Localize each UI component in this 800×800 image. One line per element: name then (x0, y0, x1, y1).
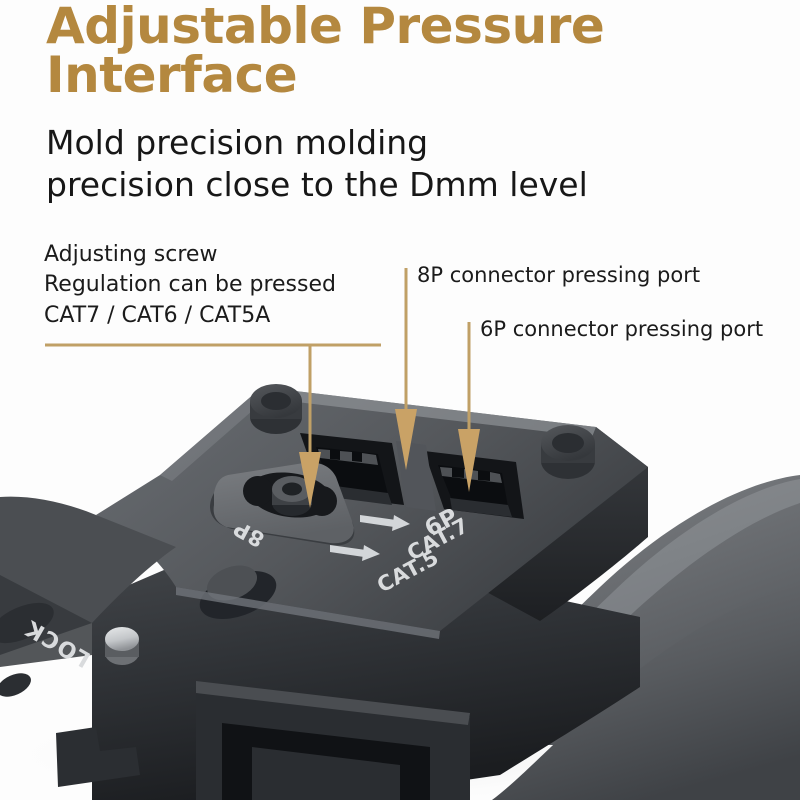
callout-6p-port: 6P connector pressing port (480, 316, 763, 343)
page-subtitle: Mold precision molding precision close t… (46, 122, 746, 206)
adjusting-screw-socket (282, 483, 302, 496)
callout-8p-port: 8P connector pressing port (417, 262, 700, 289)
screw-top-left (250, 384, 302, 434)
product-photo: LOCK (0, 355, 800, 800)
slider-cutout-lobe-left (243, 476, 273, 506)
left-wing-slot-2 (0, 669, 35, 702)
lock-pin-top (105, 627, 139, 651)
crimping-tool-illustration: LOCK (0, 355, 800, 800)
page-title: Adjustable Pressure Interface (46, 2, 746, 100)
callout-adjusting-screw: Adjusting screw Regulation can be presse… (44, 240, 336, 331)
infographic-page: Adjustable Pressure Interface Mold preci… (0, 0, 800, 800)
screw-top-right (541, 425, 595, 479)
